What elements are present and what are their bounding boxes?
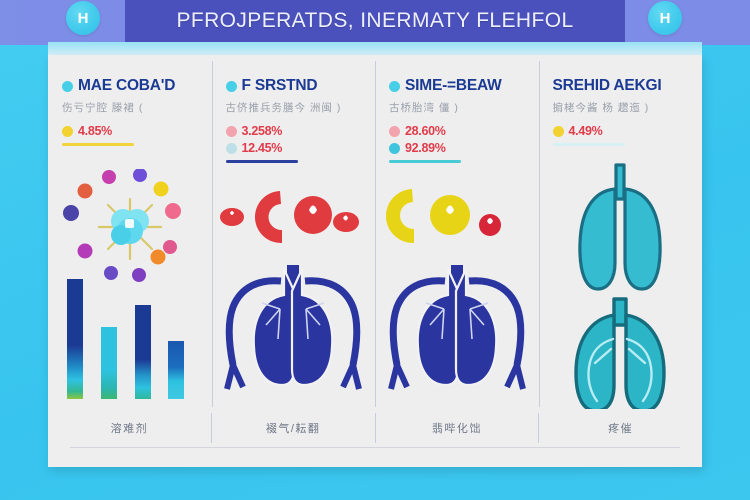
card-divider [70, 447, 680, 448]
lungs-organ-icon [227, 265, 359, 389]
column-2-header: F SRSTND 古侪推兵务膳今 洲闽 ) 3.258% 12.45% [212, 77, 376, 163]
bar-2 [101, 327, 117, 399]
yellow-cells-and-lungs [382, 169, 532, 409]
column-4-header: SREHID AEKGI 掮栳今酱 杨 趱迤 ) 4.49% [539, 77, 703, 146]
column-3-header: SIME-=BEAW 古桥胎湾 僵 ) 28.60% 92.89% [375, 77, 539, 163]
column-3: SIME-=BEAW 古桥胎湾 僵 ) 28.60% 92.89% [375, 55, 539, 413]
stat-row: 28.60% [389, 124, 525, 138]
column-1-artwork [48, 163, 212, 413]
stat-dot-icon [226, 126, 237, 137]
column-2-stats: 3.258% 12.45% [226, 124, 362, 155]
stat-row: 4.85% [62, 124, 198, 138]
bar-1 [67, 279, 83, 399]
column-1-subtitle: 伤亏宁腔 滕裙 ( [62, 100, 198, 115]
column-3-title: SIME-=BEAW [405, 77, 502, 95]
stat-value: 12.45% [242, 141, 283, 155]
infographic-page: PFROJPERATDS, INERMATY FLEHFOL H H MAE C… [0, 0, 750, 500]
column-1-title-row: MAE COBA'D [62, 77, 198, 95]
bullet-dot-icon [389, 81, 400, 92]
caption-row: 溶难剂 裰气/耘翻 翡哔化饳 疼催 [48, 413, 702, 443]
stat-value: 3.258% [242, 124, 283, 138]
stat-row: 4.49% [553, 124, 689, 138]
column-3-stats: 28.60% 92.89% [389, 124, 525, 155]
column-1: MAE COBA'D 伤亏宁腔 滕裙 ( 4.85% [48, 55, 212, 413]
column-2-subtitle: 古侪推兵务膳今 洲闽 ) [226, 100, 362, 115]
stat-dot-icon [553, 126, 564, 137]
stat-row: 92.89% [389, 141, 525, 155]
column-3-title-row: SIME-=BEAW [389, 77, 525, 95]
column-4-accent-bar [553, 143, 625, 146]
stat-value: 28.60% [405, 124, 446, 138]
badge-left-icon: H [66, 1, 100, 35]
column-2-title: F SRSTND [242, 77, 318, 95]
lungs-simple-icon [580, 165, 660, 289]
caption-3: 翡哔化饳 [375, 413, 539, 443]
header-accent-strip [48, 42, 702, 56]
column-3-artwork [375, 163, 539, 413]
column-4-stats: 4.49% [553, 124, 689, 138]
column-4-title-row: SREHID AEKGI [553, 77, 689, 95]
column-2-title-row: F SRSTND [226, 77, 362, 95]
stat-dot-icon [389, 126, 400, 137]
stat-value: 92.89% [405, 141, 446, 155]
stat-dot-icon [389, 143, 400, 154]
teal-lungs-pair [545, 149, 695, 409]
stat-row: 12.45% [226, 141, 362, 155]
stat-row: 3.258% [226, 124, 362, 138]
red-blood-cells-icon [220, 191, 359, 243]
bullet-dot-icon [226, 81, 237, 92]
caption-4: 疼催 [538, 413, 702, 443]
column-1-title: MAE COBA'D [78, 77, 175, 95]
caption-2: 裰气/耘翻 [211, 413, 375, 443]
column-container: MAE COBA'D 伤亏宁腔 滕裙 ( 4.85% [48, 55, 702, 413]
column-3-subtitle: 古桥胎湾 僵 ) [389, 100, 525, 115]
bullet-dot-icon [62, 81, 73, 92]
column-1-stats: 4.85% [62, 124, 198, 138]
caption-1: 溶难剂 [48, 413, 211, 443]
column-2-artwork [212, 163, 376, 413]
column-2: F SRSTND 古侪推兵务膳今 洲闽 ) 3.258% 12.45% [212, 55, 376, 413]
column-4-subtitle: 掮栳今酱 杨 趱迤 ) [553, 100, 689, 115]
bar-4 [168, 341, 184, 399]
column-1-header: MAE COBA'D 伤亏宁腔 滕裙 ( 4.85% [48, 77, 212, 146]
lungs-detailed-icon [576, 299, 664, 409]
column-4: SREHID AEKGI 掮栳今酱 杨 趱迤 ) 4.49% [539, 55, 703, 413]
lungs-organ-icon [391, 265, 523, 389]
burst-and-bar-chart [55, 169, 205, 409]
page-title: PFROJPERATDS, INERMATY FLEHFOL [125, 0, 625, 42]
bar-3 [135, 305, 151, 399]
content-card: MAE COBA'D 伤亏宁腔 滕裙 ( 4.85% [48, 55, 702, 467]
column-4-title: SREHID AEKGI [553, 77, 662, 95]
stat-value: 4.85% [78, 124, 112, 138]
stat-dot-icon [62, 126, 73, 137]
column-4-artwork [539, 163, 703, 413]
bar-chart-bars [67, 279, 184, 399]
badge-right-icon: H [648, 1, 682, 35]
blood-cells-and-lungs [218, 169, 368, 409]
column-1-accent-bar [62, 143, 134, 146]
stat-dot-icon [226, 143, 237, 154]
stat-value: 4.49% [569, 124, 603, 138]
yellow-cells-icon [386, 189, 501, 243]
